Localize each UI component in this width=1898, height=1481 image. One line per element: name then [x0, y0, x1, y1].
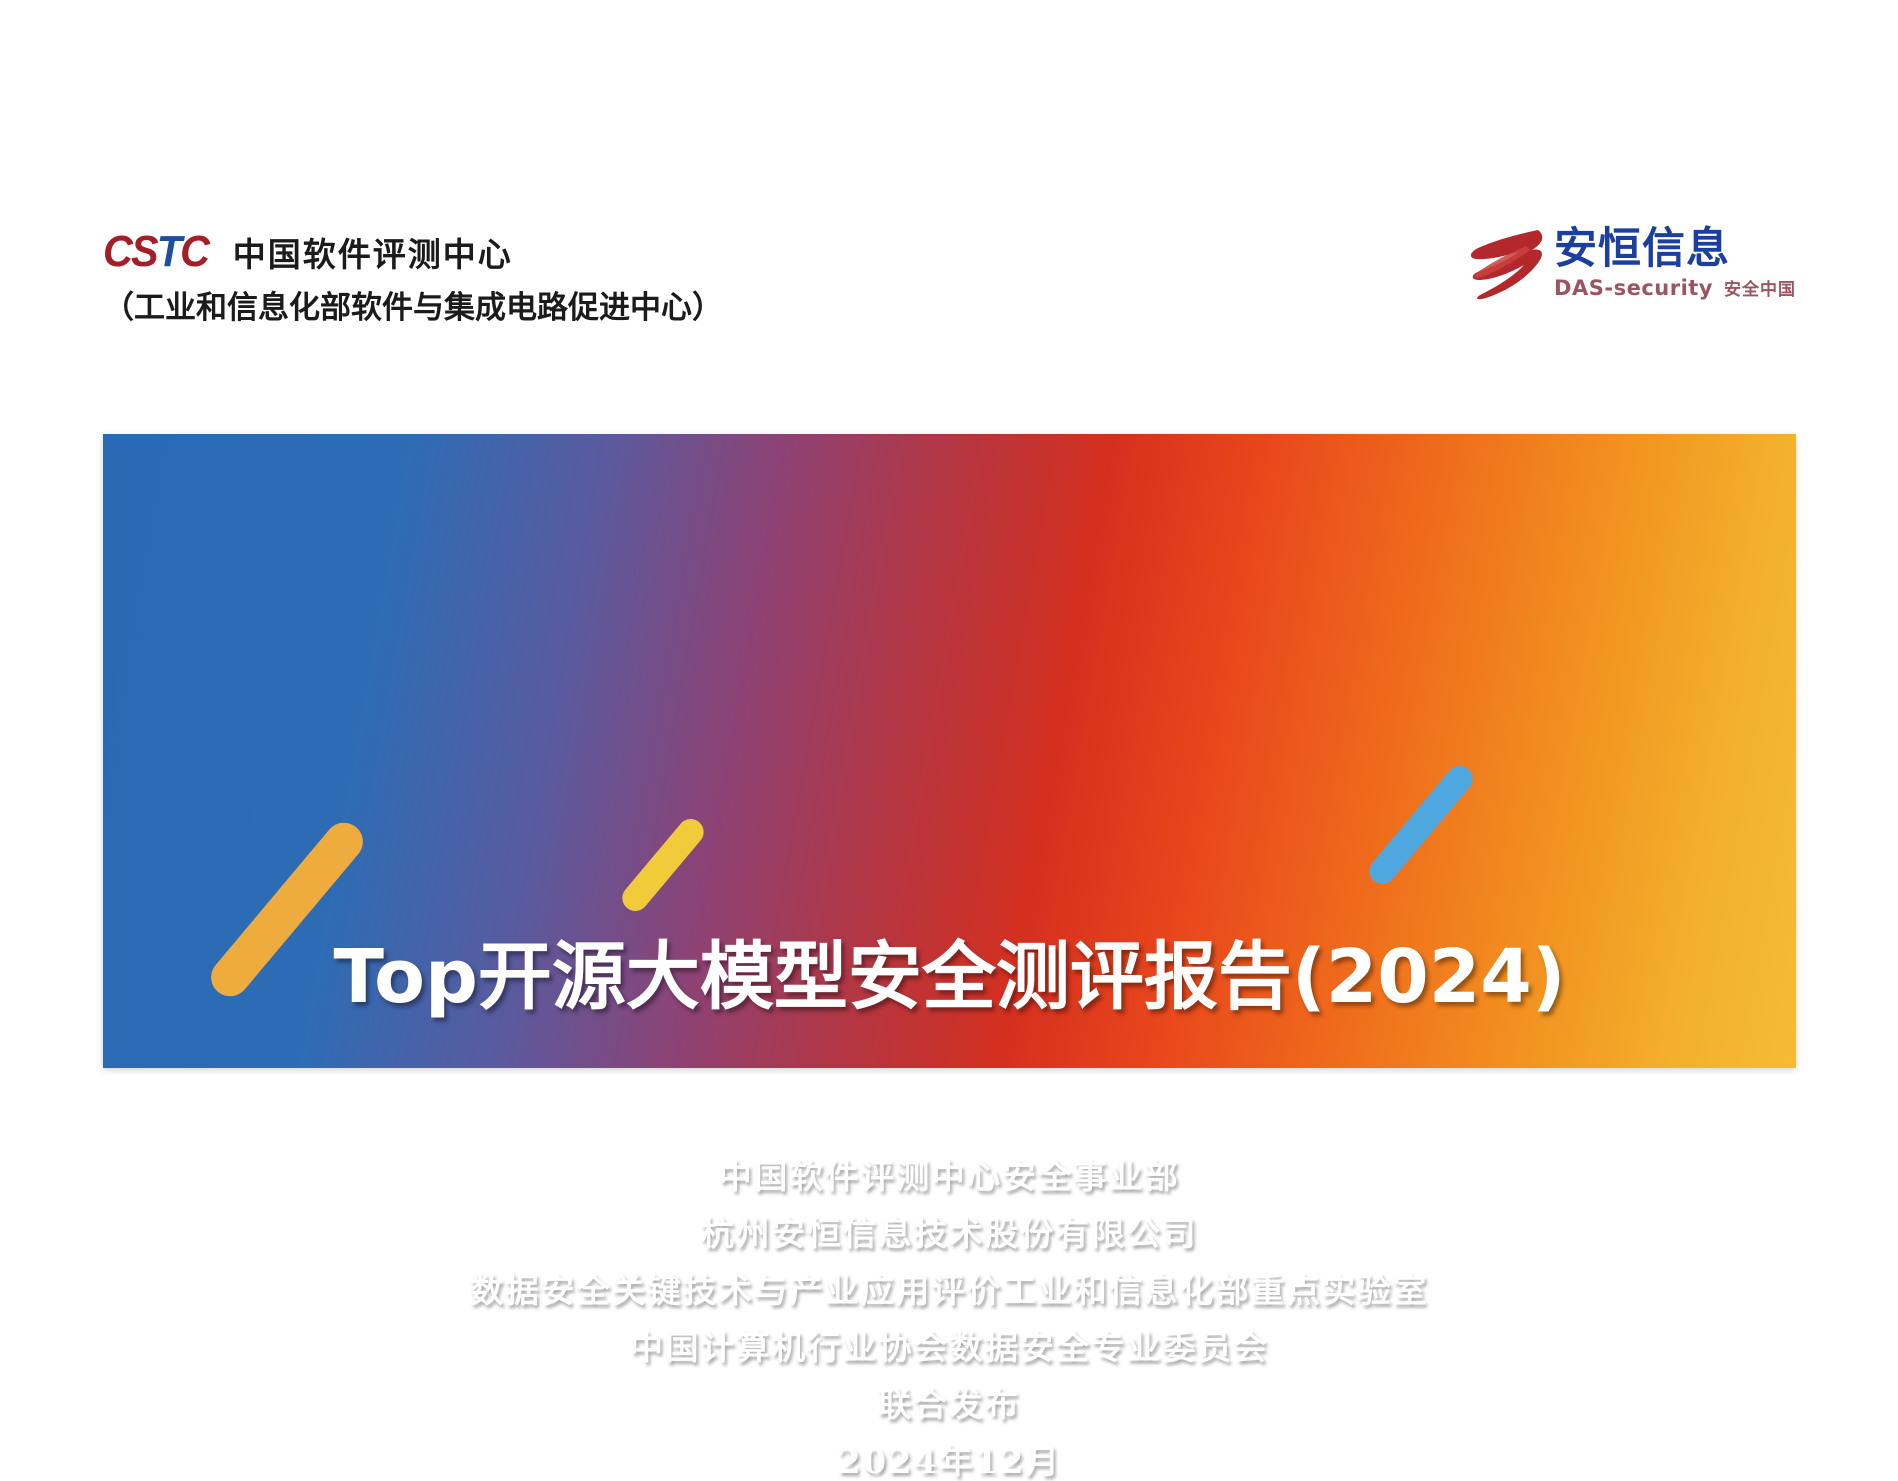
cstc-wordmark-icon: CSTC: [103, 230, 208, 274]
das-slogan: 安全中国: [1724, 275, 1796, 300]
publisher-block: 中国软件评测中心安全事业部 杭州安恒信息技术股份有限公司 数据安全关键技术与产业…: [103, 1160, 1796, 1478]
das-text-column: 安恒信息 DAS-security 安全中国: [1554, 226, 1796, 300]
cstc-wordmark-c: C: [180, 227, 208, 276]
cstc-logo-row: CSTC 中国软件评测中心: [103, 228, 723, 276]
publisher-line: 中国计算机行业协会数据安全专业委员会: [103, 1331, 1796, 1364]
cstc-logo-block: CSTC 中国软件评测中心 （工业和信息化部软件与集成电路促进中心）: [103, 228, 723, 327]
das-swoosh-icon: [1466, 226, 1546, 302]
das-name-en: DAS-security: [1554, 276, 1713, 300]
publisher-line: 中国软件评测中心安全事业部: [103, 1160, 1796, 1193]
das-security-logo-block: 安恒信息 DAS-security 安全中国: [1466, 226, 1796, 302]
page-header: CSTC 中国软件评测中心 （工业和信息化部软件与集成电路促进中心） 安恒信息 …: [0, 0, 1898, 380]
cstc-org-name: 中国软件评测中心: [233, 228, 513, 276]
publisher-line: 数据安全关键技术与产业应用评价工业和信息化部重点实验室: [103, 1274, 1796, 1307]
report-title: Top开源大模型安全测评报告(2024): [103, 939, 1796, 1017]
publisher-line: 杭州安恒信息技术股份有限公司: [103, 1217, 1796, 1250]
das-name-cn: 安恒信息: [1554, 228, 1796, 272]
publisher-joint-release: 联合发布: [103, 1388, 1796, 1421]
cstc-wordmark-cs: CS: [103, 227, 157, 276]
publish-date: 2024年12月: [103, 1445, 1796, 1478]
das-tagline-row: DAS-security 安全中国: [1554, 275, 1796, 300]
decorative-bar-yellow-small: [617, 814, 709, 917]
cover-banner: Top开源大模型安全测评报告(2024) 中国软件评测中心安全事业部 杭州安恒信…: [103, 434, 1796, 1068]
cstc-org-subtitle: （工业和信息化部软件与集成电路促进中心）: [103, 282, 723, 327]
cstc-wordmark-t: T: [157, 227, 180, 276]
